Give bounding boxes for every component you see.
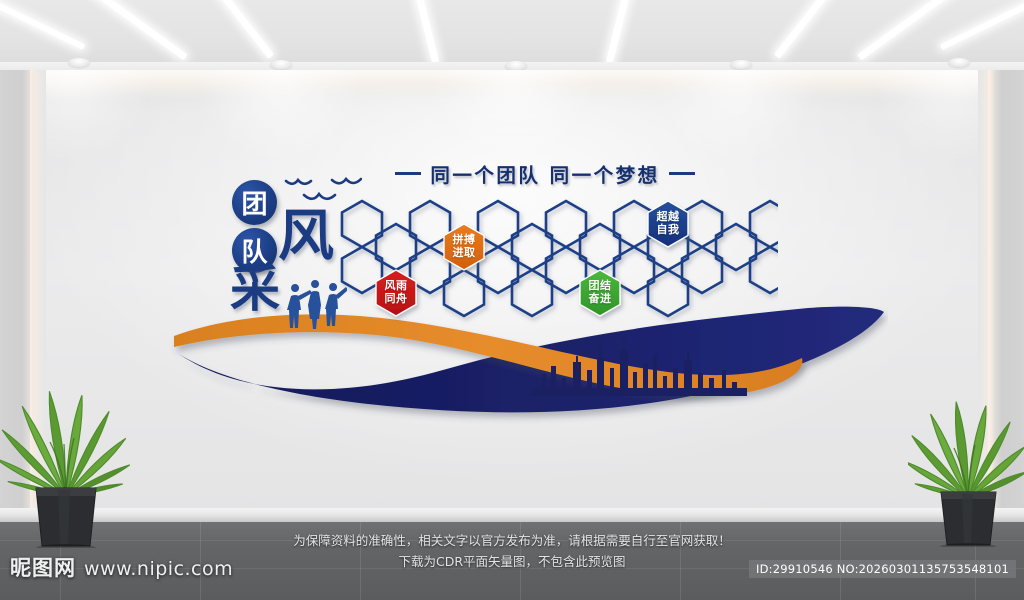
ceiling-light-strip — [774, 0, 872, 59]
logo-circle-char: 团 — [241, 184, 267, 221]
watermark-cn: 昵图网 — [10, 552, 76, 582]
watermark-en: www.nipic.com — [84, 558, 233, 580]
ceiling-light-strip — [176, 0, 274, 59]
ceiling-light-strip — [0, 0, 85, 50]
ceiling-spotlight — [730, 60, 752, 69]
ceiling-light-strip — [401, 0, 439, 63]
people-silhouettes — [285, 272, 347, 330]
logo-calligraphy-cai: 采 — [230, 264, 280, 314]
asset-id-badge: ID:29910546 NO:20260301135753548101 — [749, 560, 1016, 578]
headline-text: 同一个团队 同一个梦想 — [430, 159, 659, 188]
ceiling-light-strip — [62, 0, 187, 60]
logo-calligraphy-feng: 风 — [278, 208, 334, 264]
ceiling-spotlight — [270, 60, 292, 69]
screenshot-root: 风雨 同舟 拼搏 进取 团结 奋进 超越 自我 同一个团队 同一个梦想 团 队 … — [0, 0, 1024, 600]
ceiling-light-strip — [857, 0, 982, 60]
headline-dash-left — [395, 172, 421, 175]
ceiling-spotlight — [68, 58, 90, 67]
wall-headline: 同一个团队 同一个梦想 — [370, 160, 720, 186]
logo-circle-tuan: 团 — [232, 180, 277, 225]
potted-palm-right — [908, 382, 1024, 547]
honeycomb-grid — [338, 186, 778, 336]
hex-chaoyue-ziwo — [648, 201, 688, 247]
palm-foliage-left — [0, 391, 131, 499]
headline-dash-right — [669, 172, 695, 175]
ceiling — [0, 0, 1024, 70]
ceiling-spotlight — [505, 61, 527, 70]
birds-silhouette — [282, 168, 362, 202]
ceiling-light-strip — [940, 0, 1024, 50]
watermark: 昵图网 www.nipic.com — [10, 552, 233, 582]
palm-foliage-right — [908, 401, 1024, 500]
ceiling-light-strip — [606, 0, 644, 63]
baseboard — [0, 508, 1024, 522]
potted-palm-left — [0, 368, 140, 548]
ceiling-spotlight — [948, 58, 970, 67]
footer-line-1: 为保障资料的准确性，相关文字以官方发布为准，请根据需要自行至官网获取！ — [0, 530, 1024, 551]
